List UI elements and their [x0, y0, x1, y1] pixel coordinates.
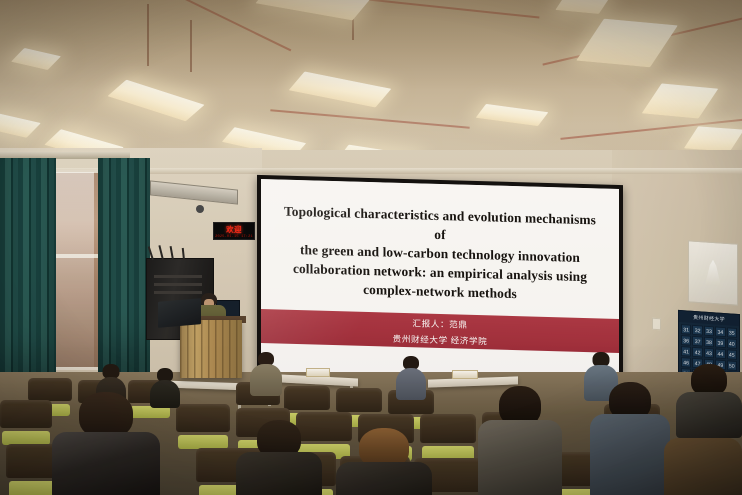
- chair[interactable]: [176, 404, 230, 452]
- lecture-hall-photo: 欢迎 2025-01-15 17:21 Topological characte…: [0, 0, 742, 495]
- laptop: [158, 298, 201, 328]
- projection-screen-surface: Topological characteristics and evolutio…: [261, 179, 619, 390]
- led-sign-subtext: 2025-01-15 17:21: [215, 235, 253, 239]
- table-nameplate: [452, 370, 478, 379]
- audience-body: [478, 420, 562, 495]
- audience-member: [396, 356, 426, 400]
- rack-slot: [154, 291, 202, 294]
- rack-slot: [154, 283, 202, 286]
- audience-member-foreground: [676, 364, 742, 434]
- audience-body: [52, 432, 160, 495]
- key-board-cell[interactable]: 32: [692, 325, 702, 336]
- slide: Topological characteristics and evolutio…: [261, 179, 619, 390]
- podium: [180, 320, 242, 378]
- key-board-cell[interactable]: 31: [681, 324, 691, 335]
- audience-body: [676, 392, 742, 438]
- key-board-cell[interactable]: 33: [704, 326, 714, 337]
- chair-back: [336, 388, 382, 412]
- light-switch[interactable]: [652, 318, 661, 331]
- key-board-cell[interactable]: 43: [704, 348, 714, 359]
- audience-member-foreground: [336, 428, 432, 495]
- key-board-cell[interactable]: 38: [704, 337, 714, 348]
- table-nameplate: [306, 368, 330, 377]
- key-board-cell[interactable]: 42: [692, 347, 702, 358]
- led-display-sign: 欢迎 2025-01-15 17:21: [213, 222, 255, 240]
- key-board-cell[interactable]: 34: [715, 326, 725, 337]
- chair-seat: [178, 435, 228, 449]
- audience-member-foreground: [590, 382, 670, 495]
- curtain-left[interactable]: [0, 158, 56, 390]
- audience-member-foreground: [52, 392, 160, 495]
- audience-body: [396, 368, 426, 400]
- chair-back: [284, 386, 330, 410]
- key-board-cell[interactable]: 44: [715, 348, 725, 359]
- key-board-cell[interactable]: 37: [692, 336, 702, 347]
- slide-title: Topological characteristics and evolutio…: [279, 202, 601, 306]
- key-board-cell[interactable]: 41: [681, 346, 691, 357]
- key-board-cell[interactable]: 36: [681, 335, 691, 346]
- podium-texture: [180, 320, 242, 378]
- audience-body: [664, 438, 742, 495]
- audience-body: [236, 452, 322, 495]
- chair-seat: [2, 431, 50, 445]
- audience-member-foreground: [478, 386, 562, 495]
- key-board-cell[interactable]: 39: [715, 337, 725, 348]
- audience-member-foreground: [236, 420, 322, 495]
- projection-screen: Topological characteristics and evolutio…: [257, 175, 623, 394]
- audience-body: [250, 364, 282, 396]
- led-sign-text: 欢迎: [226, 224, 242, 235]
- window-glare: [54, 172, 94, 368]
- key-board-cell[interactable]: 40: [727, 338, 737, 349]
- wall-poster: [688, 240, 738, 305]
- camera-icon: [196, 205, 204, 213]
- key-board-cell[interactable]: 45: [727, 349, 737, 360]
- curtain-right[interactable]: [98, 158, 150, 376]
- rack-slot: [154, 275, 202, 278]
- audience-member: [250, 352, 282, 396]
- chair-back: [176, 404, 230, 432]
- poster-figure: [705, 259, 721, 286]
- chair-back: [0, 400, 52, 428]
- audience-body: [336, 462, 432, 495]
- key-board-cell[interactable]: 35: [727, 327, 737, 338]
- audience-body: [590, 414, 670, 495]
- chair[interactable]: [0, 400, 52, 448]
